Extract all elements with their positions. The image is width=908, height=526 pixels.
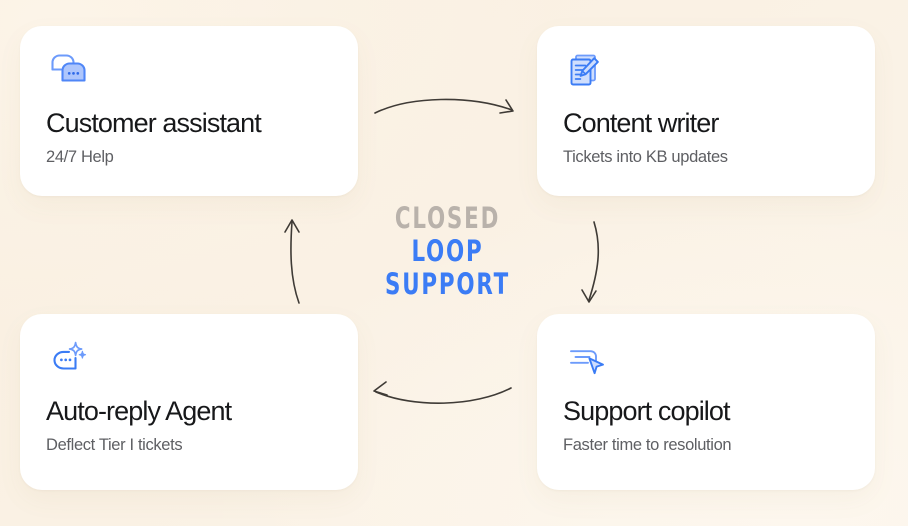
arrow-bottom bbox=[374, 382, 511, 403]
card-title: Customer assistant bbox=[46, 108, 332, 138]
document-pencil-icon bbox=[563, 50, 609, 92]
arrow-top bbox=[375, 99, 513, 113]
lines-cursor-icon bbox=[563, 338, 609, 380]
card-title: Auto-reply Agent bbox=[46, 396, 332, 426]
card-subtitle: Tickets into KB updates bbox=[563, 148, 849, 168]
card-auto-reply-agent[interactable]: Auto-reply Agent Deflect Tier I tickets bbox=[20, 314, 358, 490]
arrow-right bbox=[582, 222, 598, 302]
card-title: Content writer bbox=[563, 108, 849, 138]
center-wordmark: CLOSED LOOP SUPPORT bbox=[358, 202, 537, 301]
card-title: Support copilot bbox=[563, 396, 849, 426]
wordmark-line-support: SUPPORT bbox=[374, 268, 521, 301]
card-subtitle: 24/7 Help bbox=[46, 148, 332, 168]
card-customer-assistant[interactable]: Customer assistant 24/7 Help bbox=[20, 26, 358, 196]
chat-sparkle-icon bbox=[46, 338, 92, 380]
card-content-writer[interactable]: Content writer Tickets into KB updates bbox=[537, 26, 875, 196]
arrow-left bbox=[285, 220, 299, 303]
diagram-canvas: Customer assistant 24/7 Help Content wri… bbox=[0, 0, 908, 526]
card-subtitle: Faster time to resolution bbox=[563, 436, 849, 456]
chat-bubbles-icon bbox=[46, 50, 92, 92]
wordmark-line-closed: CLOSED bbox=[374, 202, 521, 235]
wordmark-line-loop: LOOP bbox=[374, 235, 521, 268]
card-support-copilot[interactable]: Support copilot Faster time to resolutio… bbox=[537, 314, 875, 490]
card-subtitle: Deflect Tier I tickets bbox=[46, 436, 332, 456]
